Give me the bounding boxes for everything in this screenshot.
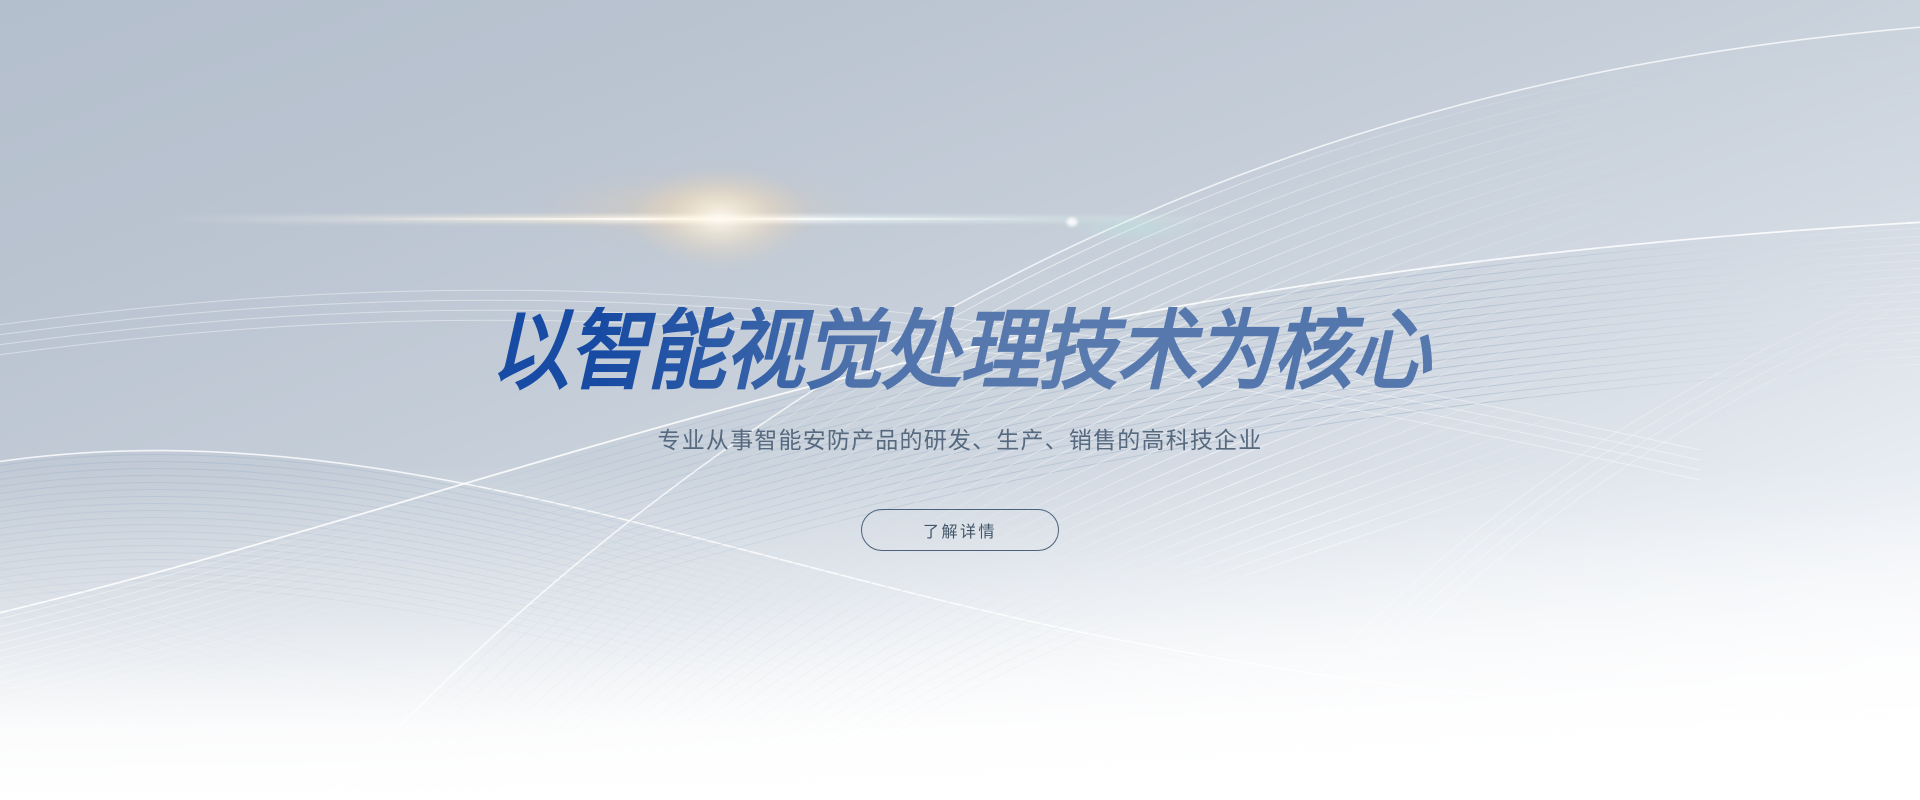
hero-banner: 以智能视觉处理技术为核心 专业从事智能安防产品的研发、生产、销售的高科技企业 了… [0,0,1920,800]
page-title: 以智能视觉处理技术为核心 [96,307,1824,395]
learn-more-button[interactable]: 了解详情 [861,509,1059,551]
hero-content: 以智能视觉处理技术为核心 专业从事智能安防产品的研发、生产、销售的高科技企业 了… [0,0,1920,800]
hero-subtitle: 专业从事智能安防产品的研发、生产、销售的高科技企业 [0,425,1920,457]
cta-container: 了解详情 [0,509,1920,551]
